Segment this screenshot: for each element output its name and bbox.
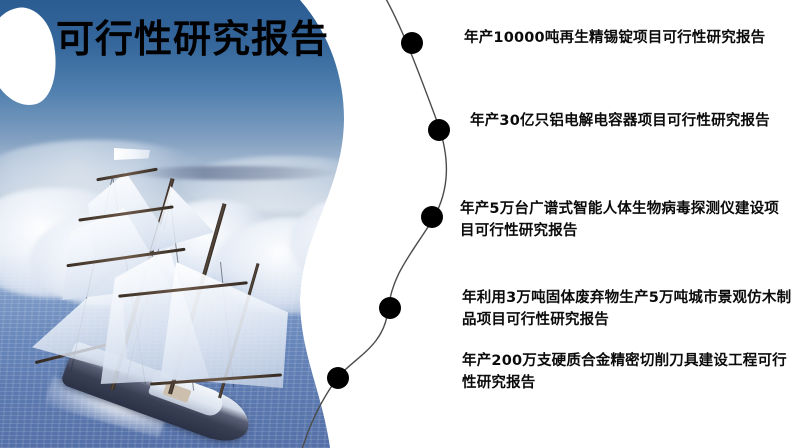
bullet-marker-4[interactable] [379, 297, 401, 319]
slide-canvas: 可行性研究报告 年产10000吨再生精锡锭项目可行性研究报告 年产30亿只铝电解… [0, 0, 800, 448]
bullet-marker-3[interactable] [421, 206, 443, 228]
ship-flag [114, 148, 150, 160]
bullet-marker-5[interactable] [327, 367, 349, 389]
bullet-marker-2[interactable] [428, 119, 450, 141]
bullet-marker-1[interactable] [401, 32, 423, 54]
list-item-2[interactable]: 年产30亿只铝电解电容器项目可行性研究报告 [470, 110, 788, 132]
list-item-4[interactable]: 年利用3万吨固体废弃物生产5万吨城市景观仿木制品项目可行性研究报告 [462, 287, 792, 332]
list-item-3[interactable]: 年产5万台广谱式智能人体生物病毒探测仪建设项目可行性研究报告 [460, 198, 790, 243]
list-item-5[interactable]: 年产200万支硬质合金精密切削刀具建设工程可行性研究报告 [462, 350, 794, 395]
page-title: 可行性研究报告 [56, 18, 329, 62]
list-item-1[interactable]: 年产10000吨再生精锡锭项目可行性研究报告 [464, 27, 800, 49]
